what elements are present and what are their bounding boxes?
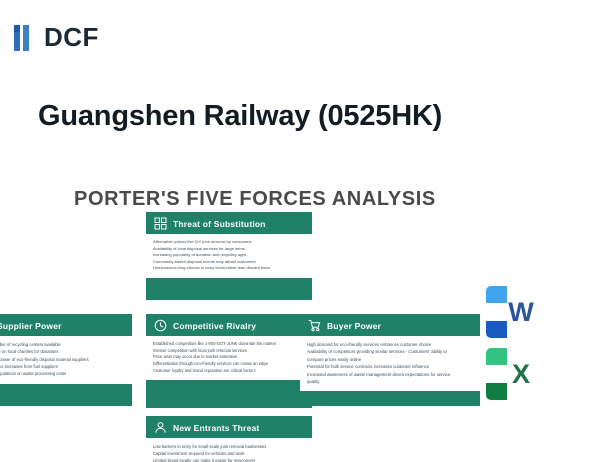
force-point: Negotiation power of eco-friendly dispos… xyxy=(0,356,125,363)
force-point: Limited number of recycling centers avai… xyxy=(0,341,125,348)
force-card-supplier[interactable]: Supplier Power Limited number of recycli… xyxy=(0,314,132,406)
force-card-title: Buyer Power xyxy=(327,321,381,331)
brand-name: DCF xyxy=(44,22,99,53)
force-point: Low barriers to entry for small-scale ju… xyxy=(153,443,305,450)
force-card-body: Alternative options like DIY junk remova… xyxy=(146,234,312,278)
force-card-body: Established competitors like 1-800-GOT-J… xyxy=(146,336,312,380)
force-point: Customer loyalty and brand reputation ar… xyxy=(153,368,305,375)
force-card-title: New Entrants Threat xyxy=(173,423,259,433)
force-card-body: High demand for eco-friendly services en… xyxy=(300,336,480,391)
force-point: compare prices easily online xyxy=(307,356,473,363)
force-card-body: Low barriers to entry for small-scale ju… xyxy=(146,438,312,462)
person-entrants-icon xyxy=(154,421,167,434)
force-point: Limited brand loyalty can make it easier… xyxy=(153,457,305,462)
force-card-title: Supplier Power xyxy=(0,321,62,331)
force-point: Increased awareness of waste management … xyxy=(307,371,473,378)
force-point: Dependence on local charities for donati… xyxy=(0,348,125,355)
word-letter: W xyxy=(508,297,533,328)
force-card-header: Competitive Rivalry xyxy=(146,314,312,336)
force-card-header: New Entrants Threat xyxy=(146,416,312,438)
force-point: Impact of regulations on waste processin… xyxy=(0,370,125,377)
grid-substitution-icon xyxy=(154,217,167,230)
force-point: quality xyxy=(307,378,473,385)
cart-buyer-icon xyxy=(308,319,321,332)
force-card-title: Competitive Rivalry xyxy=(173,321,256,331)
force-card-rivalry[interactable]: Competitive Rivalry Established competit… xyxy=(146,314,312,408)
dcf-bars-logo-icon xyxy=(14,23,36,53)
force-point: Price wars may occur due to market satur… xyxy=(153,354,305,361)
brand-logo[interactable]: DCF xyxy=(14,22,99,53)
force-point: Established competitors like 1-800-GOT-J… xyxy=(153,341,305,348)
force-point: Differentiation through eco-friendly ser… xyxy=(153,361,305,368)
page-title: Guangshen Railway (0525HK) xyxy=(38,100,442,133)
word-document-icon[interactable]: W xyxy=(486,286,538,338)
section-heading: PORTER'S FIVE FORCES ANALYSIS xyxy=(74,188,436,211)
force-point: Capital investment required for vehicles… xyxy=(153,450,305,457)
force-card-header: Supplier Power xyxy=(0,314,132,336)
force-card-body: Limited number of recycling centers avai… xyxy=(0,336,132,384)
excel-spine-top xyxy=(486,348,507,365)
excel-spreadsheet-icon[interactable]: X xyxy=(486,348,538,400)
excel-letter: X xyxy=(512,359,530,390)
force-card-header: Threat of Substitution xyxy=(146,212,312,234)
word-spine-bottom xyxy=(486,321,507,338)
force-card-header: Buyer Power xyxy=(300,314,480,336)
force-card-buyer[interactable]: Buyer Power High demand for eco-friendly… xyxy=(300,314,480,406)
force-card-substitution[interactable]: Threat of Substitution Alternative optio… xyxy=(146,212,312,300)
force-point: Potential for bulk service contracts inc… xyxy=(307,363,473,370)
force-card-title: Threat of Substitution xyxy=(173,219,266,229)
force-point: Potential price increases from fuel supp… xyxy=(0,363,125,370)
clock-rivalry-icon xyxy=(154,319,167,332)
force-point: Intense competition with local junk remo… xyxy=(153,348,305,355)
force-point: High demand for eco-friendly services en… xyxy=(307,341,473,348)
force-point: Homeowners may choose to keep items rath… xyxy=(153,265,305,272)
force-card-entrants[interactable]: New Entrants Threat Low barriers to entr… xyxy=(146,416,312,462)
excel-spine-bottom xyxy=(486,383,507,400)
word-spine-top xyxy=(486,286,507,303)
force-point: Availability of competitors providing si… xyxy=(307,348,473,355)
